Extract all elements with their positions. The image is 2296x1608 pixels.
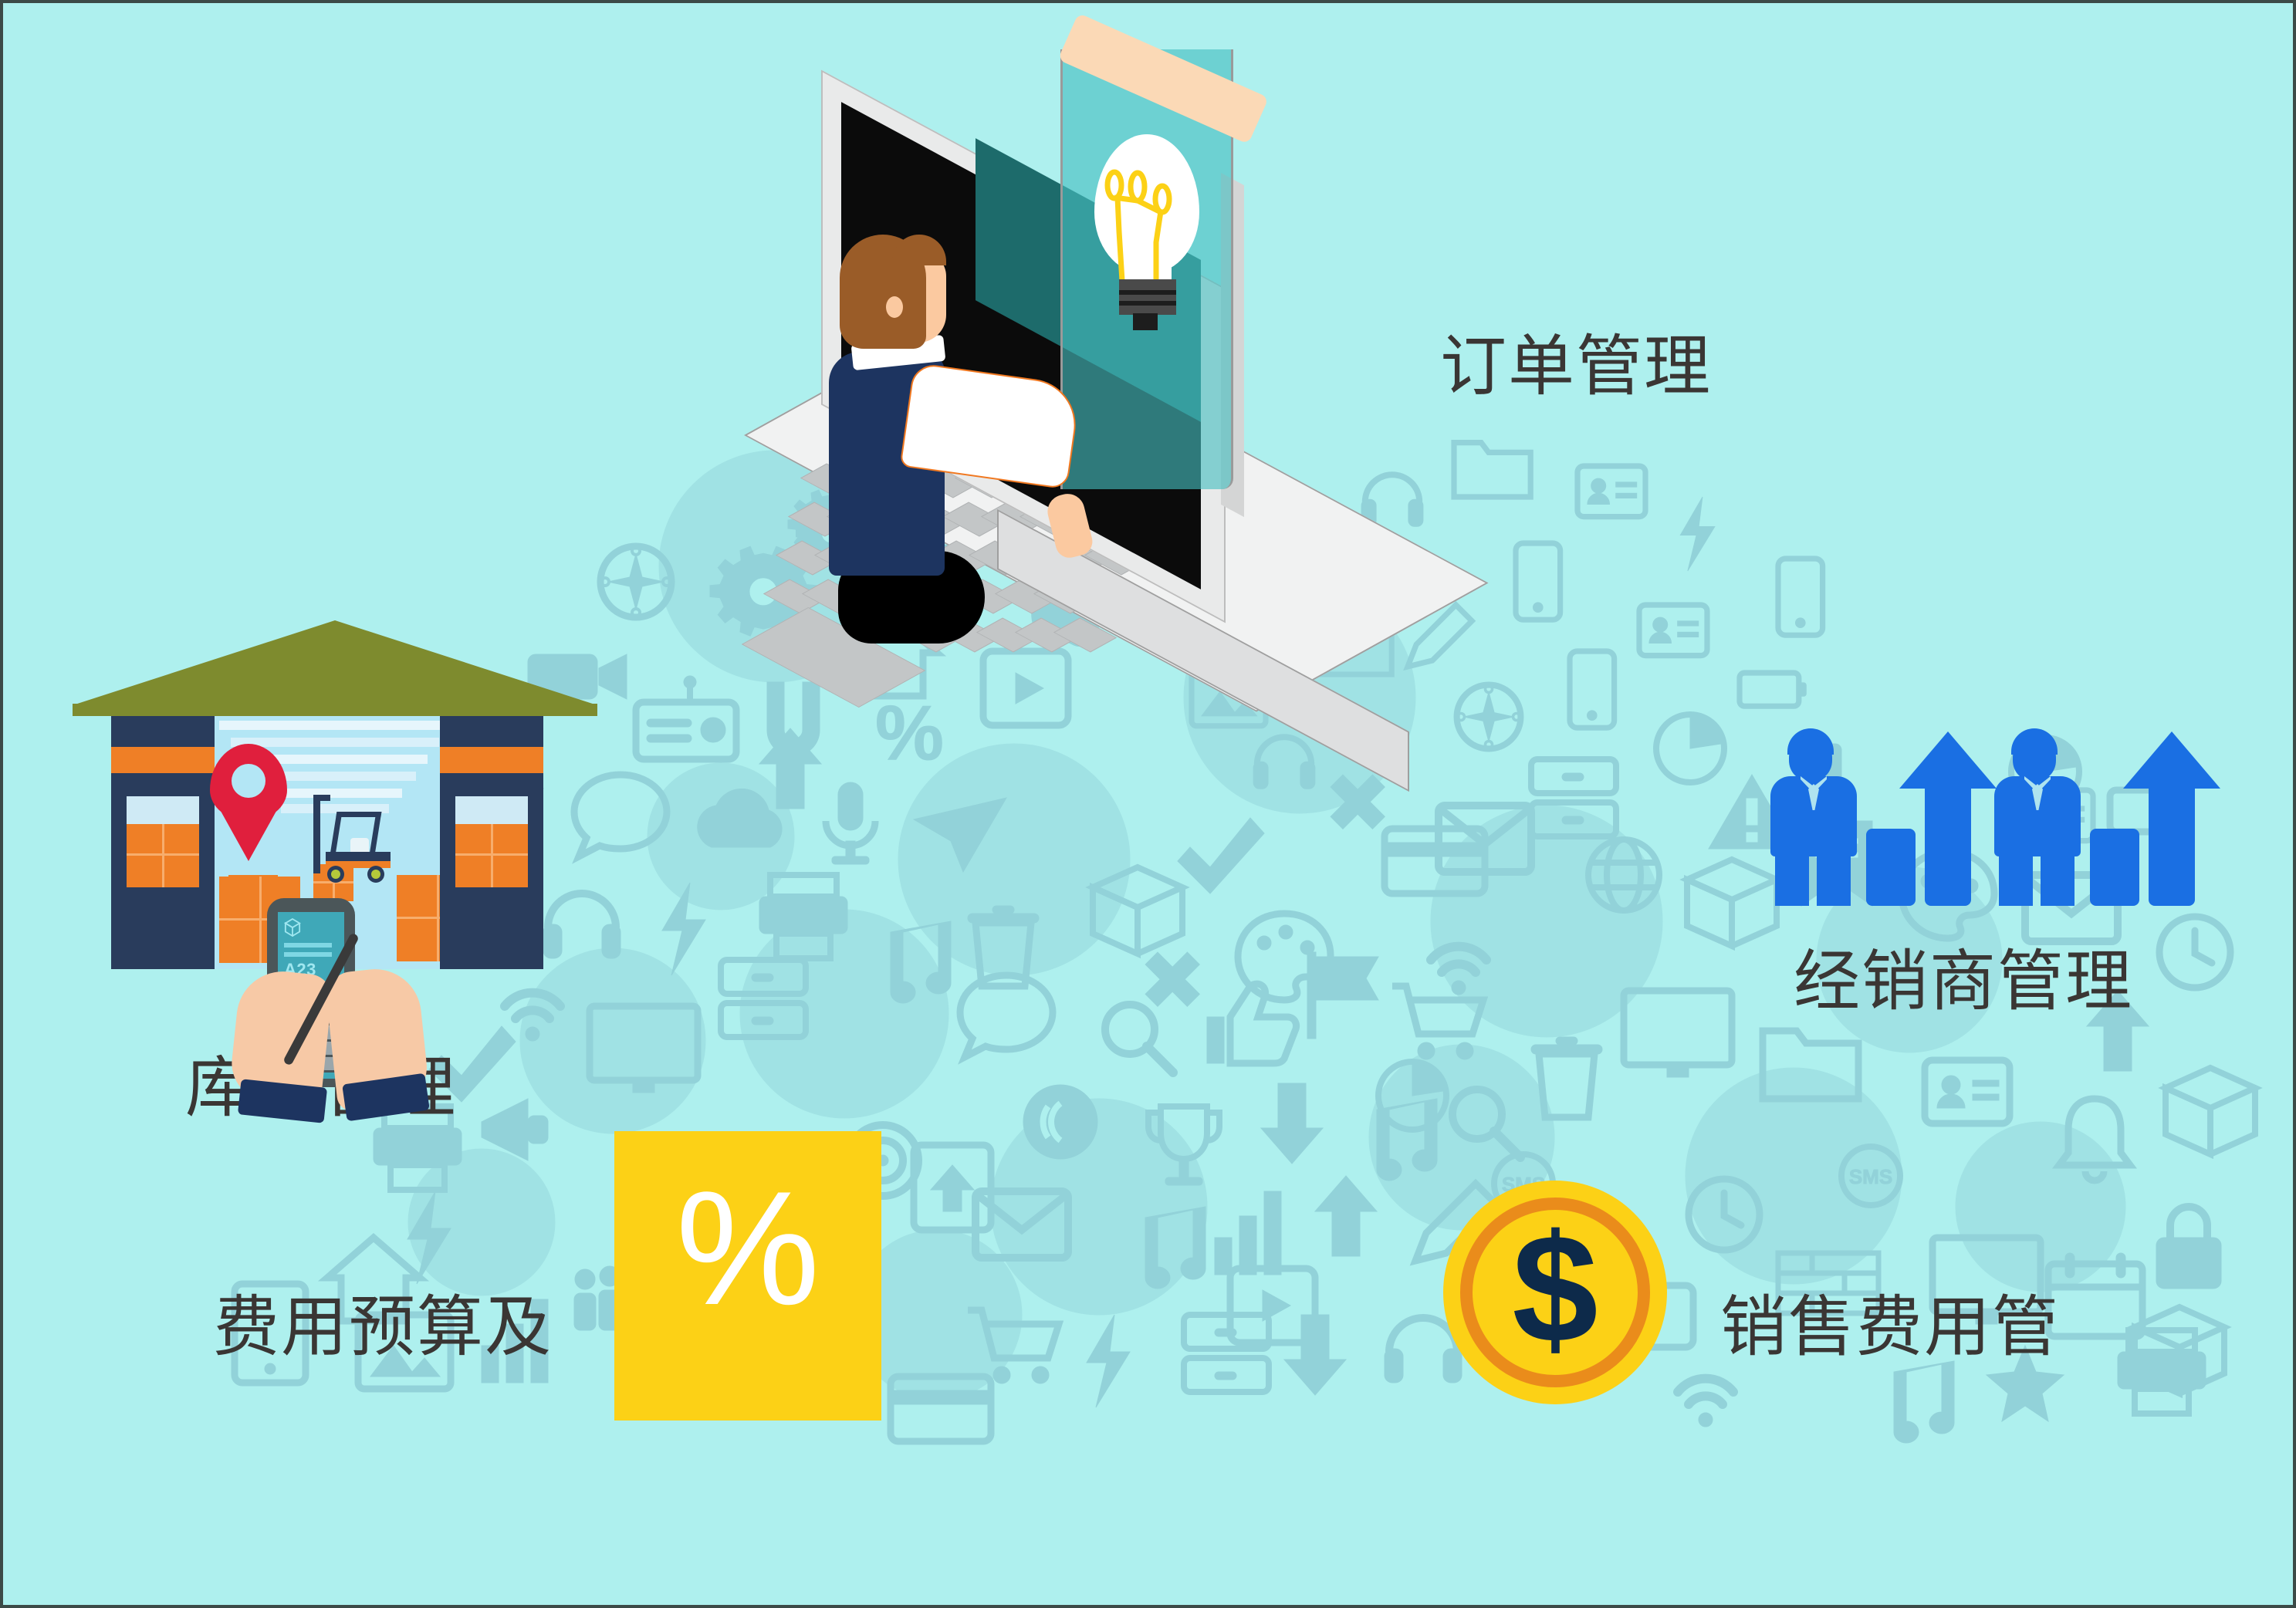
arrow-up-head-icon	[1899, 731, 1997, 789]
shutter-slat	[219, 721, 451, 730]
warehouse-eave	[73, 704, 597, 716]
pillar-stripe	[111, 747, 215, 773]
scanner-text-line	[284, 952, 332, 957]
arrow-up-head-icon	[2123, 731, 2220, 789]
shutter-slat	[267, 789, 402, 798]
lightbulb-base	[1119, 279, 1176, 315]
label-dealer-management: 经销商管理	[1794, 927, 2133, 1023]
percent-symbol: %	[676, 1167, 820, 1329]
dollar-coin-icon: $	[1443, 1181, 1667, 1404]
leg-icon	[1817, 855, 1851, 906]
label-order-management: 订单管理	[1440, 312, 1712, 408]
person-ear	[886, 296, 903, 318]
head-icon	[1789, 735, 1832, 781]
forklift-wheel	[367, 866, 384, 883]
chart-bar-icon	[1866, 829, 1916, 906]
lightbulb-tip	[1133, 313, 1158, 330]
businessman-growth-icon-2	[1994, 728, 2164, 883]
forklift-mast	[313, 796, 320, 873]
crate-seam	[162, 824, 164, 887]
box-cube-icon	[284, 918, 301, 937]
forklift-seat	[350, 838, 369, 853]
percent-card: %	[614, 1131, 881, 1421]
chart-bar-icon	[2090, 829, 2139, 906]
forklift-mast-top	[313, 795, 330, 801]
lightbulb-base-ridge	[1119, 301, 1176, 306]
lightbulb-base-ridge	[1119, 290, 1176, 295]
crate-seam	[127, 853, 199, 856]
crate-seam	[491, 824, 493, 887]
map-pin-hole	[232, 764, 265, 798]
head-icon	[2013, 735, 2056, 781]
arrow-up-stem-icon	[2149, 787, 2195, 906]
leg-icon	[1999, 855, 2033, 906]
dollar-symbol: $	[1512, 1212, 1598, 1366]
shutter-slat	[231, 738, 439, 747]
leg-icon	[1775, 855, 1809, 906]
forklift-wheel	[327, 866, 344, 883]
label-sales-expense: 销售费用管	[1720, 1272, 2060, 1369]
leg-icon	[2041, 855, 2075, 906]
lightbulb-filament-icon	[1094, 157, 1210, 296]
pillar-stripe	[440, 747, 543, 773]
warehouse-illustration: A23 75	[96, 620, 574, 1022]
businessman-growth-icon-1	[1770, 728, 1940, 883]
arrow-up-stem-icon	[1925, 787, 1971, 906]
warehouse-roof	[73, 620, 597, 705]
infographic-canvas: %	[0, 0, 2296, 1608]
label-expense-budget: 费用预算及	[213, 1272, 553, 1369]
crate-seam	[455, 853, 528, 856]
